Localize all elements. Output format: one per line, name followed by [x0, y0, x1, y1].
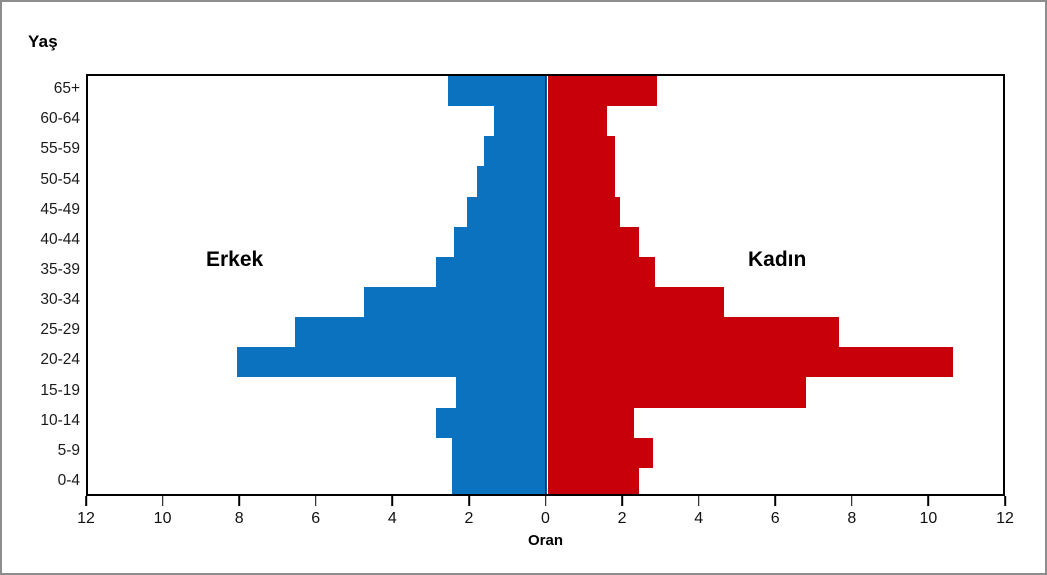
- bar-male: [452, 438, 548, 468]
- x-axis-tick-label: 10: [154, 510, 172, 528]
- bar-female: [548, 197, 621, 227]
- x-axis-tick-label: 10: [920, 510, 938, 528]
- x-axis-tick-mark: [392, 496, 394, 506]
- center-axis-line: [545, 76, 547, 494]
- y-axis-title: Yaş: [28, 32, 58, 52]
- bar-male: [456, 377, 548, 407]
- x-axis-tick-mark: [85, 496, 87, 506]
- x-axis-tick-mark: [621, 496, 623, 506]
- y-axis-tick-label: 45-49: [6, 202, 80, 218]
- y-axis-tick-label: 0-4: [6, 473, 80, 489]
- bar-female: [548, 106, 607, 136]
- bar-female: [548, 76, 657, 106]
- x-axis-tick-marks: [86, 496, 1005, 508]
- x-axis-tick-label: 6: [771, 510, 780, 528]
- x-axis-tick-label: 8: [235, 510, 244, 528]
- plot-area: Erkek Kadın: [86, 74, 1005, 496]
- bar-female: [548, 438, 653, 468]
- chart-figure: Yaş 0-45-910-1415-1920-2425-2930-3435-39…: [0, 0, 1047, 575]
- x-axis-tick-label: 2: [618, 510, 627, 528]
- x-axis-tick-mark: [545, 496, 547, 506]
- x-axis-tick-mark: [851, 496, 853, 506]
- y-axis-tick-label: 10-14: [6, 413, 80, 429]
- x-axis-tick-mark: [1004, 496, 1006, 506]
- bar-male: [494, 106, 548, 136]
- bar-male: [436, 257, 547, 287]
- x-axis-tick-labels: 12108642024681012: [86, 510, 1005, 534]
- y-axis-tick-label: 5-9: [6, 443, 80, 459]
- bar-male: [295, 317, 548, 347]
- series-label-female: Kadın: [748, 248, 806, 272]
- bar-male: [467, 197, 547, 227]
- bar-female: [548, 166, 615, 196]
- y-axis-tick-label: 25-29: [6, 322, 80, 338]
- x-axis-tick-label: 4: [694, 510, 703, 528]
- x-axis-tick-mark: [468, 496, 470, 506]
- x-axis-tick-mark: [162, 496, 164, 506]
- bar-female: [548, 317, 839, 347]
- x-axis-tick-label: 12: [77, 510, 95, 528]
- x-axis-tick-mark: [698, 496, 700, 506]
- bar-male: [364, 287, 548, 317]
- x-axis-tick-mark: [315, 496, 317, 506]
- x-axis-tick-label: 8: [847, 510, 856, 528]
- x-axis-tick-label: 4: [388, 510, 397, 528]
- bar-male: [454, 227, 548, 257]
- bar-male: [436, 408, 547, 438]
- x-axis-tick-mark: [774, 496, 776, 506]
- bar-female: [548, 227, 640, 257]
- y-axis-tick-label: 40-44: [6, 232, 80, 248]
- x-axis-tick-label: 2: [464, 510, 473, 528]
- x-axis-tick-label: 6: [311, 510, 320, 528]
- x-axis-tick-mark: [238, 496, 240, 506]
- y-axis-tick-label: 55-59: [6, 141, 80, 157]
- bar-female: [548, 287, 724, 317]
- y-axis-tick-label: 65+: [6, 81, 80, 97]
- bar-female: [548, 136, 615, 166]
- y-axis-tick-label: 50-54: [6, 172, 80, 188]
- bar-female: [548, 408, 634, 438]
- bar-female: [548, 347, 954, 377]
- y-axis-tick-label: 15-19: [6, 383, 80, 399]
- y-axis-tick-label: 30-34: [6, 292, 80, 308]
- bar-female: [548, 257, 655, 287]
- x-axis-tick-mark: [928, 496, 930, 506]
- bar-male: [237, 347, 547, 377]
- x-axis-tick-label: 0: [541, 510, 550, 528]
- bar-male: [452, 468, 548, 496]
- y-axis-tick-label: 35-39: [6, 262, 80, 278]
- x-axis-tick-label: 12: [996, 510, 1014, 528]
- bar-female: [548, 468, 640, 496]
- y-axis-tick-label: 60-64: [6, 111, 80, 127]
- y-axis-tick-label: 20-24: [6, 352, 80, 368]
- bar-male: [484, 136, 547, 166]
- y-axis-tick-labels: 0-45-910-1415-1920-2425-2930-3435-3940-4…: [2, 74, 80, 496]
- bar-male: [477, 166, 548, 196]
- series-label-male: Erkek: [206, 248, 263, 272]
- bar-female: [548, 377, 806, 407]
- bar-male: [448, 76, 548, 106]
- x-axis-title: Oran: [86, 532, 1005, 549]
